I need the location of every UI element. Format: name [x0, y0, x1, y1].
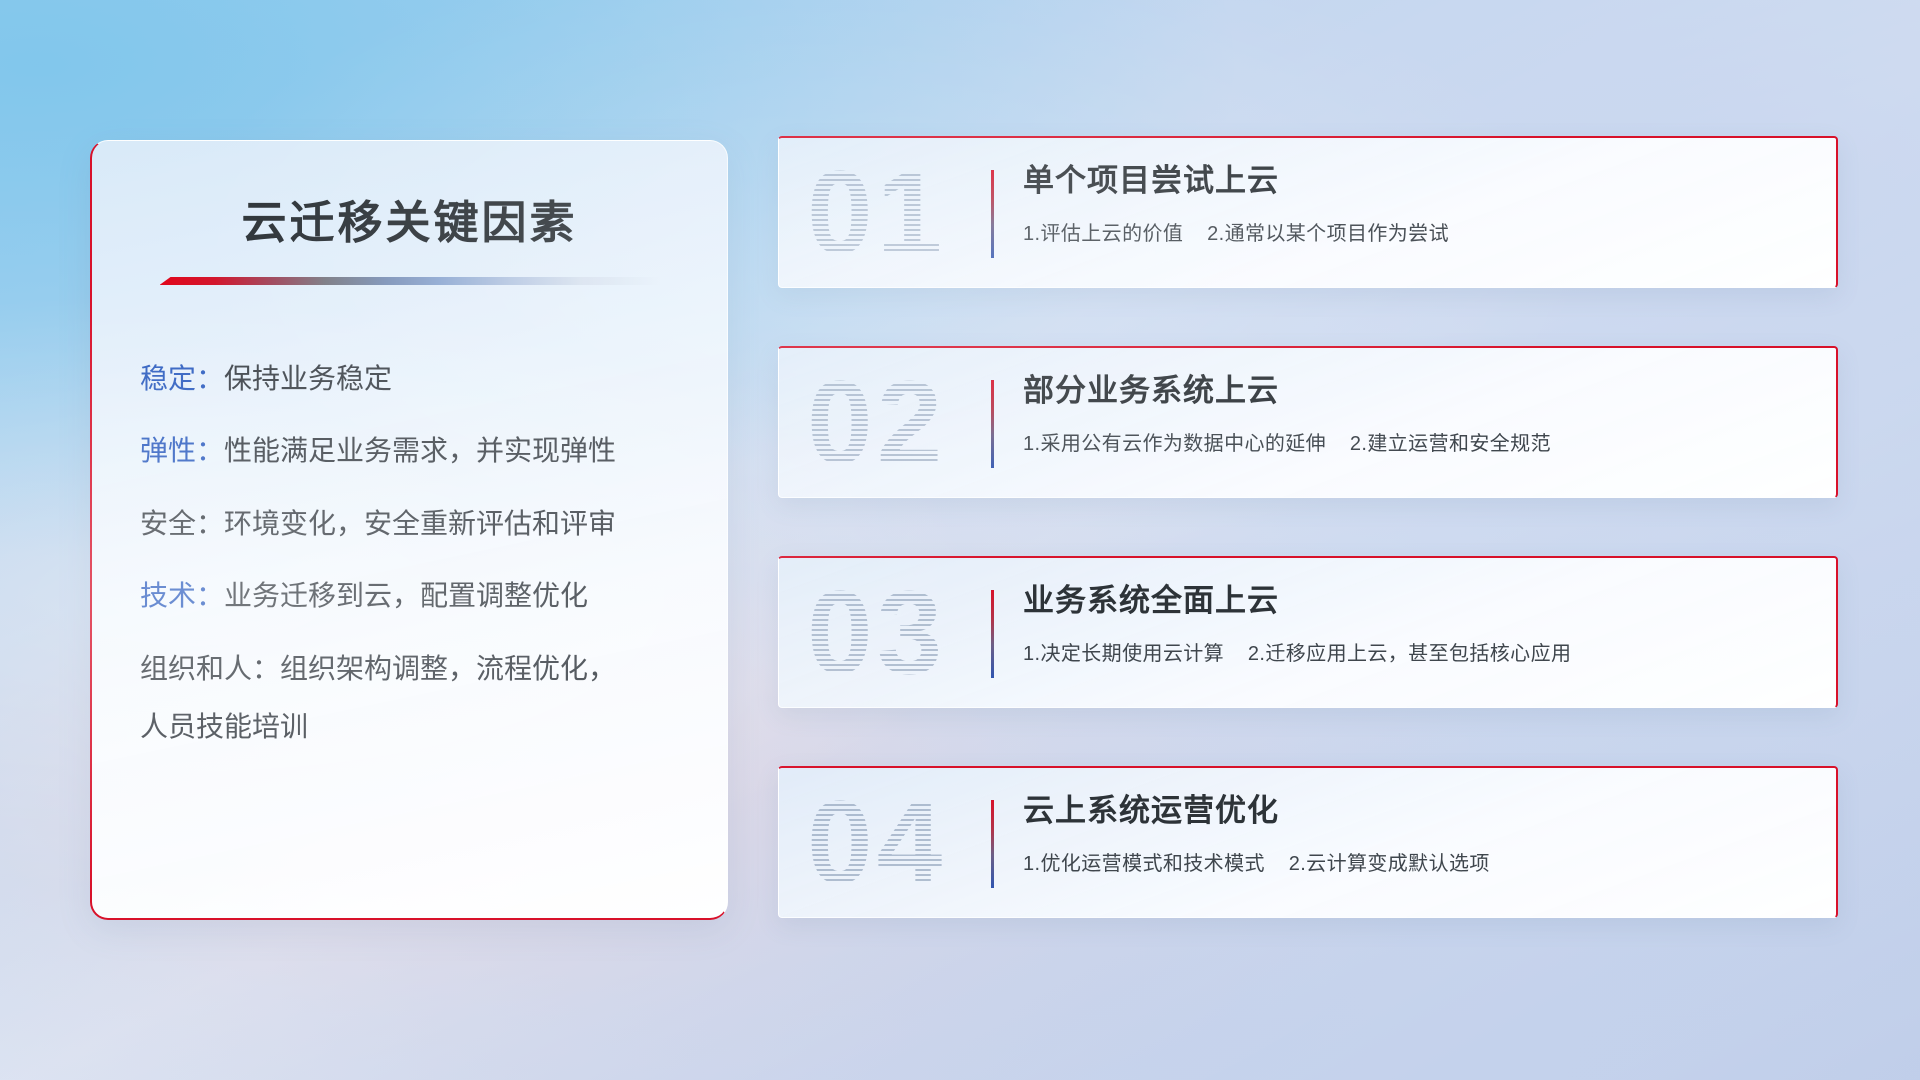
step-card[interactable]: 02 部分业务系统上云 1.采用公有云作为数据中心的延伸 2.建立运营和安全规范	[778, 346, 1838, 498]
card-description: 1.评估上云的价值 2.通常以某个项目作为尝试	[1023, 217, 1812, 246]
slide-canvas: 云迁移关键因素 稳定：保持业务稳定 弹性：性能满足业务需求，并实现弹性 安全：环…	[0, 0, 1920, 1080]
card-title: 业务系统全面上云	[1023, 582, 1812, 621]
step-number-watermark: 03	[807, 574, 946, 692]
card-body: 部分业务系统上云 1.采用公有云作为数据中心的延伸 2.建立运营和安全规范	[1023, 372, 1812, 456]
card-body: 云上系统运营优化 1.优化运营模式和技术模式 2.云计算变成默认选项	[1023, 792, 1812, 876]
list-item: 技术：业务迁移到云，配置调整优化	[140, 578, 693, 614]
card-accent-divider	[991, 170, 994, 258]
factor-text: 环境变化，安全重新评估和评审	[224, 508, 616, 539]
factor-label: 弹性：	[140, 435, 224, 466]
list-item: 安全：环境变化，安全重新评估和评审	[140, 506, 693, 542]
key-factors-list: 稳定：保持业务稳定 弹性：性能满足业务需求，并实现弹性 安全：环境变化，安全重新…	[92, 361, 727, 687]
card-accent-divider	[991, 380, 994, 468]
page-title: 云迁移关键因素	[92, 186, 727, 251]
factor-label: 稳定：	[140, 363, 224, 394]
card-accent-divider	[991, 590, 994, 678]
factor-label: 安全：	[140, 508, 224, 539]
list-item: 稳定：保持业务稳定	[140, 361, 693, 397]
card-description: 1.优化运营模式和技术模式 2.云计算变成默认选项	[1023, 847, 1812, 876]
step-card[interactable]: 01 单个项目尝试上云 1.评估上云的价值 2.通常以某个项目作为尝试	[778, 136, 1838, 288]
factor-text: 组织架构调整，流程优化，	[280, 653, 616, 684]
card-title: 云上系统运营优化	[1023, 792, 1812, 831]
factor-text: 性能满足业务需求，并实现弹性	[224, 435, 616, 466]
factor-label: 技术：	[140, 580, 224, 611]
step-number-watermark: 04	[807, 784, 946, 902]
card-accent-divider	[991, 800, 994, 888]
step-card[interactable]: 03 业务系统全面上云 1.决定长期使用云计算 2.迁移应用上云，甚至包括核心应…	[778, 556, 1838, 708]
title-underline-rule	[160, 277, 660, 285]
factor-text: 保持业务稳定	[224, 363, 392, 394]
factor-text-continuation: 人员技能培训	[92, 705, 727, 745]
step-number-watermark: 01	[807, 154, 946, 272]
card-description: 1.决定长期使用云计算 2.迁移应用上云，甚至包括核心应用	[1023, 637, 1812, 666]
list-item: 组织和人：组织架构调整，流程优化，	[140, 651, 693, 687]
card-title: 部分业务系统上云	[1023, 372, 1812, 411]
card-body: 单个项目尝试上云 1.评估上云的价值 2.通常以某个项目作为尝试	[1023, 162, 1812, 246]
card-body: 业务系统全面上云 1.决定长期使用云计算 2.迁移应用上云，甚至包括核心应用	[1023, 582, 1812, 666]
step-card[interactable]: 04 云上系统运营优化 1.优化运营模式和技术模式 2.云计算变成默认选项	[778, 766, 1838, 918]
list-item: 弹性：性能满足业务需求，并实现弹性	[140, 433, 693, 469]
key-factors-panel: 云迁移关键因素 稳定：保持业务稳定 弹性：性能满足业务需求，并实现弹性 安全：环…	[90, 140, 728, 920]
factor-label: 组织和人：	[140, 653, 280, 684]
card-description: 1.采用公有云作为数据中心的延伸 2.建立运营和安全规范	[1023, 427, 1812, 456]
factor-text: 业务迁移到云，配置调整优化	[224, 580, 588, 611]
card-title: 单个项目尝试上云	[1023, 162, 1812, 201]
migration-steps-list: 01 单个项目尝试上云 1.评估上云的价值 2.通常以某个项目作为尝试 02 部…	[778, 136, 1838, 918]
step-number-watermark: 02	[807, 364, 946, 482]
